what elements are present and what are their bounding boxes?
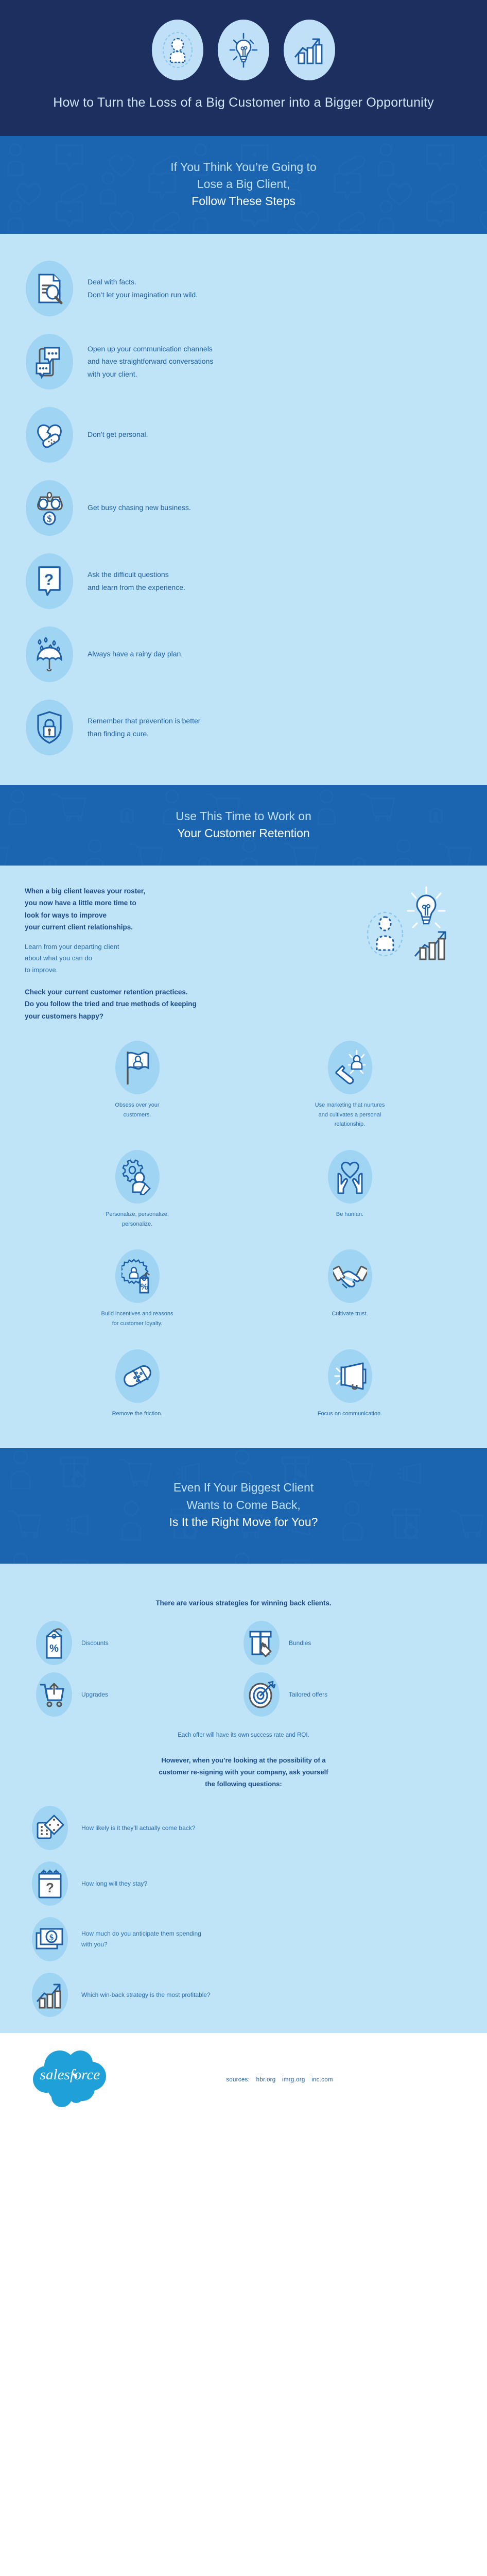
step-item: Open up your communication channels and … — [0, 327, 487, 397]
strategy-item: Bundles — [243, 1621, 451, 1665]
question-line-1: Which win-back strategy is the most prof… — [81, 1990, 211, 2001]
question-text: How long will they stay? — [81, 1878, 147, 1889]
dice-icon — [32, 1806, 68, 1850]
step-line-1: Get busy chasing new business. — [88, 501, 191, 514]
salesforce-cloud-logo[interactable]: salesforce — [31, 2047, 124, 2112]
binoculars-dollar-icon: $ — [26, 480, 73, 536]
gift-bundle-icon — [243, 1621, 280, 1665]
svg-text:$: $ — [49, 1933, 54, 1942]
handshake-icon — [328, 1249, 372, 1303]
question-bubble-icon: ? — [26, 553, 73, 609]
svg-text:?: ? — [46, 1880, 54, 1895]
calendar-question-icon: ? — [32, 1861, 68, 1906]
section-3-body: There are various strategies for winning… — [0, 1564, 487, 2033]
tip-label-line-1: Use marketing that nurtures — [253, 1100, 447, 1110]
hand-pointer-person-icon — [328, 1041, 372, 1094]
tip-label-line-1: Personalize, personalize, — [40, 1210, 234, 1219]
strategies-heading: There are various strategies for winning… — [0, 1586, 487, 1614]
tip-label: Build incentives and reasons for custome… — [40, 1309, 234, 1328]
sources-line: sources: hbr.org imrg.org inc.com — [124, 2077, 456, 2083]
tip-label-line-1: Obsess over your — [40, 1100, 234, 1110]
step-text: Deal with facts. Don’t let your imaginat… — [88, 276, 198, 300]
section-1-steps: Deal with facts. Don’t let your imaginat… — [0, 234, 487, 785]
tip-label: Obsess over your customers. — [40, 1100, 234, 1120]
question-item: $ How much do you anticipate them spendi… — [0, 1911, 487, 1967]
source-3[interactable]: inc.com — [311, 2077, 333, 2083]
step-item: Deal with facts. Don’t let your imaginat… — [0, 253, 487, 324]
tip-label-line-1: Cultivate trust. — [253, 1309, 447, 1319]
retention-intro-normal: Learn from your departing client about w… — [25, 941, 349, 976]
section-1-banner-line-1: If You Think You’re Going to — [0, 159, 487, 176]
step-line-1: Ask the difficult questions — [88, 568, 185, 581]
intro-strong-line-3: look for ways to improve — [25, 909, 349, 921]
tip-label: Focus on communication. — [253, 1409, 447, 1419]
hero-icon-row — [0, 20, 487, 80]
step-item: $ Get busy chasing new business. — [0, 473, 487, 543]
tip-label-line-1: Build incentives and reasons — [40, 1309, 234, 1319]
step-item: Remember that prevention is better than … — [0, 692, 487, 762]
megaphone-icon — [328, 1349, 372, 1403]
step-text: Always have a rainy day plan. — [88, 648, 183, 660]
lightbulb-icon — [408, 887, 445, 927]
retention-intro-copy: When a big client leaves your roster, yo… — [25, 885, 354, 976]
intro-strong-line-2: you now have a little more time to — [25, 897, 349, 909]
customer-outline-icon — [368, 912, 403, 956]
money-bills-icon: $ — [32, 1917, 68, 1961]
step-line-1: Remember that prevention is better — [88, 715, 200, 727]
question-list: How likely is it they’ll actually come b… — [0, 1793, 487, 2028]
question-line-1: How much do you anticipate them spending — [81, 1928, 201, 1939]
svg-text:%: % — [49, 1643, 59, 1654]
retention-question-block: Check your current customer retention pr… — [0, 986, 487, 1022]
hero-title-line-1: How to Turn the Loss — [53, 95, 177, 110]
questions-heading: However, when you’re looking at the poss… — [0, 1741, 487, 1793]
section-1-banner: If You Think You’re Going to Lose a Big … — [0, 136, 487, 234]
target-dart-icon — [243, 1672, 280, 1717]
tip-label: Remove the friction. — [40, 1409, 234, 1419]
question-text: How much do you anticipate them spending… — [81, 1928, 201, 1950]
section-3-banner: Even If Your Biggest Client Wants to Com… — [0, 1448, 487, 1564]
tip-item: Use marketing that nurtures and cultivat… — [243, 1036, 456, 1139]
step-line-1: Open up your communication channels — [88, 343, 213, 355]
section-3-banner-line-1: Even If Your Biggest Client — [0, 1479, 487, 1496]
step-item: Always have a rainy day plan. — [0, 619, 487, 689]
questions-heading-line-1: However, when you’re looking at the poss… — [43, 1755, 444, 1767]
section-3-banner-line-2: Wants to Come Back, — [0, 1497, 487, 1514]
offers-note: Each offer will have its own success rat… — [0, 1722, 487, 1741]
umbrella-rain-icon — [26, 626, 73, 682]
strategy-item: Upgrades — [36, 1672, 243, 1717]
tip-label-line-3: relationship. — [253, 1120, 447, 1129]
tip-label-line-1: Be human. — [253, 1210, 447, 1219]
cart-upgrade-icon — [36, 1672, 72, 1717]
tip-item: % Build incentives and reasons for custo… — [31, 1244, 243, 1337]
retention-q-line-1: Check your current customer retention pr… — [25, 986, 462, 998]
tip-label-line-1: Focus on communication. — [253, 1409, 447, 1419]
tip-label-line-1: Remove the friction. — [40, 1409, 234, 1419]
step-text: Open up your communication channels and … — [88, 343, 213, 380]
strategy-label: Bundles — [289, 1639, 311, 1647]
source-1[interactable]: hbr.org — [256, 2077, 276, 2083]
growth-chart-icon — [32, 1973, 68, 2017]
tip-label: Personalize, personalize, personalize. — [40, 1210, 234, 1229]
sources-label: sources: — [226, 2077, 250, 2083]
section-2-banner-line-2: Your Customer Retention — [0, 825, 487, 842]
hands-heart-icon — [328, 1150, 372, 1204]
question-item: ? How long will they stay? — [0, 1856, 487, 1911]
section-2-banner-line-1: Use This Time to Work on — [0, 808, 487, 825]
step-line-3: with your client. — [88, 368, 213, 380]
question-text: Which win-back strategy is the most prof… — [81, 1990, 211, 2001]
section-2-banner: Use This Time to Work on Your Customer R… — [0, 785, 487, 866]
section-3-banner-line-3: Is It the Right Move for You? — [0, 1514, 487, 1531]
footer: salesforce sources: hbr.org imrg.org inc… — [0, 2033, 487, 2126]
tip-label: Cultivate trust. — [253, 1309, 447, 1319]
step-text: Ask the difficult questions and learn fr… — [88, 568, 185, 593]
section-2-body: When a big client leaves your roster, yo… — [0, 866, 487, 1448]
hero-section: How to Turn the Loss of a Big Customer i… — [0, 0, 487, 136]
tip-item: Focus on communication. — [243, 1344, 456, 1428]
infographic-page: How to Turn the Loss of a Big Customer i… — [0, 0, 487, 2126]
discount-tag-icon: % — [36, 1621, 72, 1665]
step-text: Get busy chasing new business. — [88, 501, 191, 514]
step-line-2: and learn from the experience. — [88, 581, 185, 594]
question-line-1: How likely is it they’ll actually come b… — [81, 1823, 195, 1834]
step-line-2: than finding a cure. — [88, 727, 200, 740]
retention-intro: When a big client leaves your roster, yo… — [0, 882, 487, 976]
badge-person-discount-tag-icon: % — [115, 1249, 160, 1303]
svg-text:?: ? — [44, 571, 54, 588]
step-line-2: and have straightforward conversations — [88, 355, 213, 367]
question-item: How likely is it they’ll actually come b… — [0, 1800, 487, 1856]
step-line-2: Don’t let your imagination run wild. — [88, 289, 198, 301]
source-2[interactable]: imrg.org — [282, 2077, 305, 2083]
intro-normal-line-1: Learn from your departing client — [25, 941, 349, 953]
question-line-2: with you? — [81, 1939, 201, 1950]
intro-strong-line-1: When a big client leaves your roster, — [25, 885, 349, 897]
document-magnifier-icon — [26, 261, 73, 316]
tip-item: Be human. — [243, 1145, 456, 1238]
question-text: How likely is it they’ll actually come b… — [81, 1823, 195, 1834]
question-line-1: How long will they stay? — [81, 1878, 147, 1889]
retention-intro-art — [354, 885, 462, 962]
tip-label-line-2: personalize. — [40, 1219, 234, 1229]
tip-label-line-2: customers. — [40, 1110, 234, 1120]
intro-strong-line-4: your current client relationships. — [25, 921, 349, 933]
strategy-label: Tailored offers — [289, 1691, 327, 1698]
tip-item: Cultivate trust. — [243, 1244, 456, 1337]
broken-heart-bandage-icon — [26, 407, 73, 463]
lightbulb-icon — [218, 20, 269, 80]
questions-heading-line-3: the following questions: — [43, 1778, 444, 1790]
retention-intro-strong: When a big client leaves your roster, yo… — [25, 885, 349, 933]
step-text: Remember that prevention is better than … — [88, 715, 200, 739]
step-line-1: Deal with facts. — [88, 276, 198, 288]
retention-q-line-2: Do you follow the tried and true methods… — [25, 998, 462, 1010]
strategy-item: % Discounts — [36, 1621, 243, 1665]
growth-chart-icon — [415, 932, 445, 959]
step-text: Don’t get personal. — [88, 428, 148, 440]
chat-bubbles-phone-icon — [26, 334, 73, 389]
retention-q-line-3: your customers happy? — [25, 1010, 462, 1022]
tip-item: Obsess over your customers. — [31, 1036, 243, 1139]
shield-lock-icon — [26, 700, 73, 755]
salesforce-wordmark: salesforce — [40, 2066, 100, 2083]
growth-chart-icon — [284, 20, 335, 80]
intro-normal-line-2: about what you can do — [25, 953, 349, 964]
step-line-1: Don’t get personal. — [88, 428, 148, 440]
hero-title-line-2: of a Big Customer — [181, 95, 286, 110]
tip-label-line-2: for customer loyalty. — [40, 1319, 234, 1329]
page-title: How to Turn the Loss of a Big Customer i… — [0, 94, 487, 112]
tip-label: Use marketing that nurtures and cultivat… — [253, 1100, 447, 1129]
intro-normal-line-3: to improve. — [25, 964, 349, 976]
svg-text:$: $ — [47, 514, 52, 524]
section-1-banner-line-3: Follow These Steps — [0, 193, 487, 210]
section-1-banner-line-2: Lose a Big Client, — [0, 176, 487, 193]
questions-heading-line-2: customer re-signing with your company, a… — [43, 1767, 444, 1778]
bandage-icon — [115, 1349, 160, 1403]
retention-tip-grid: Obsess over your customers. — [0, 1022, 487, 1431]
step-line-1: Always have a rainy day plan. — [88, 648, 183, 660]
svg-text:%: % — [140, 1282, 148, 1292]
strategy-grid: % Discounts Bundles — [0, 1614, 487, 1722]
strategy-label: Upgrades — [81, 1691, 108, 1698]
strategy-item: Tailored offers — [243, 1672, 451, 1717]
tip-item: Personalize, personalize, personalize. — [31, 1145, 243, 1238]
tip-label: Be human. — [253, 1210, 447, 1219]
step-item: ? Ask the difficult questions and learn … — [0, 546, 487, 616]
step-item: Don’t get personal. — [0, 400, 487, 470]
tip-label-line-2: and cultivates a personal — [253, 1110, 447, 1120]
flag-person-icon — [115, 1041, 160, 1094]
hero-title-line-3: into a Bigger Opportunity — [289, 95, 434, 110]
step-list: Deal with facts. Don’t let your imaginat… — [0, 250, 487, 768]
question-item: Which win-back strategy is the most prof… — [0, 1967, 487, 2023]
tip-item: Remove the friction. — [31, 1344, 243, 1428]
customer-outline-icon — [152, 20, 203, 80]
strategy-label: Discounts — [81, 1639, 109, 1647]
gear-person-pencil-icon — [115, 1150, 160, 1204]
